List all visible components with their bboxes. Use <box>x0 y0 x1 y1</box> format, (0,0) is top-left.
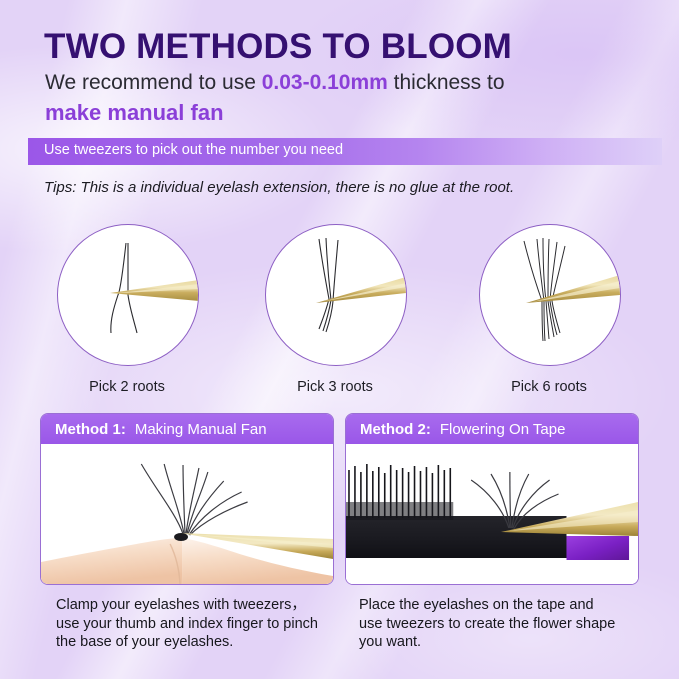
method-panel-2: Method 2: Flowering On Tape <box>345 413 639 585</box>
lash-strip-on-tape-photo <box>346 444 638 584</box>
circle-caption-pick-3: Pick 3 roots <box>245 379 425 395</box>
circle-caption-pick-2: Pick 2 roots <box>37 379 217 395</box>
method-1-caption: Clamp your eyelashes with tweezers， use … <box>56 596 356 652</box>
recommendation-text-line2: make manual fan <box>45 100 224 126</box>
recommendation-text: We recommend to use 0.03-0.10mm thicknes… <box>45 71 505 95</box>
thickness-value: 0.03-0.10mm <box>262 71 388 94</box>
method-1-caption-line-3: the base of your eyelashes. <box>56 633 356 652</box>
page-title: TWO METHODS TO BLOOM <box>44 27 512 67</box>
illustration-circle-pick-3 <box>265 224 407 366</box>
method-2-caption: Place the eyelashes on the tape and use … <box>359 596 659 652</box>
method-2-caption-line-2: use tweezers to create the flower shape <box>359 615 659 634</box>
instruction-band: Use tweezers to pick out the number you … <box>28 138 662 165</box>
recommendation-prefix: We recommend to use <box>45 71 262 94</box>
method-1-number: Method 1: <box>55 421 126 438</box>
recommendation-suffix: thickness to <box>388 71 505 94</box>
method-1-header: Method 1: Making Manual Fan <box>41 414 333 444</box>
method-2-number: Method 2: <box>360 421 431 438</box>
method-2-photo <box>346 444 638 584</box>
method-2-title: Flowering On Tape <box>440 421 566 438</box>
method-2-header: Method 2: Flowering On Tape <box>346 414 638 444</box>
method-1-title: Making Manual Fan <box>135 421 267 438</box>
poster-root: TWO METHODS TO BLOOM We recommend to use… <box>0 0 679 679</box>
tweezer-with-lashes-icon <box>58 225 198 365</box>
method-2-caption-line-1: Place the eyelashes on the tape and <box>359 596 659 615</box>
fingers-pinching-lash-fan-photo <box>41 444 333 584</box>
tweezer-with-lashes-icon <box>266 225 406 365</box>
method-1-photo <box>41 444 333 584</box>
method-2-caption-line-3: you want. <box>359 633 659 652</box>
instruction-band-label: Use tweezers to pick out the number you … <box>44 142 343 158</box>
tips-note: Tips: This is a individual eyelash exten… <box>44 179 514 196</box>
method-1-caption-line-1: Clamp your eyelashes with tweezers， <box>56 596 356 615</box>
tweezer-with-lashes-icon <box>480 225 620 365</box>
method-panel-1: Method 1: Making Manual Fan <box>40 413 334 585</box>
illustration-circle-pick-6 <box>479 224 621 366</box>
circle-caption-pick-6: Pick 6 roots <box>459 379 639 395</box>
illustration-circle-pick-2 <box>57 224 199 366</box>
method-1-caption-line-2: use your thumb and index finger to pinch <box>56 615 356 634</box>
